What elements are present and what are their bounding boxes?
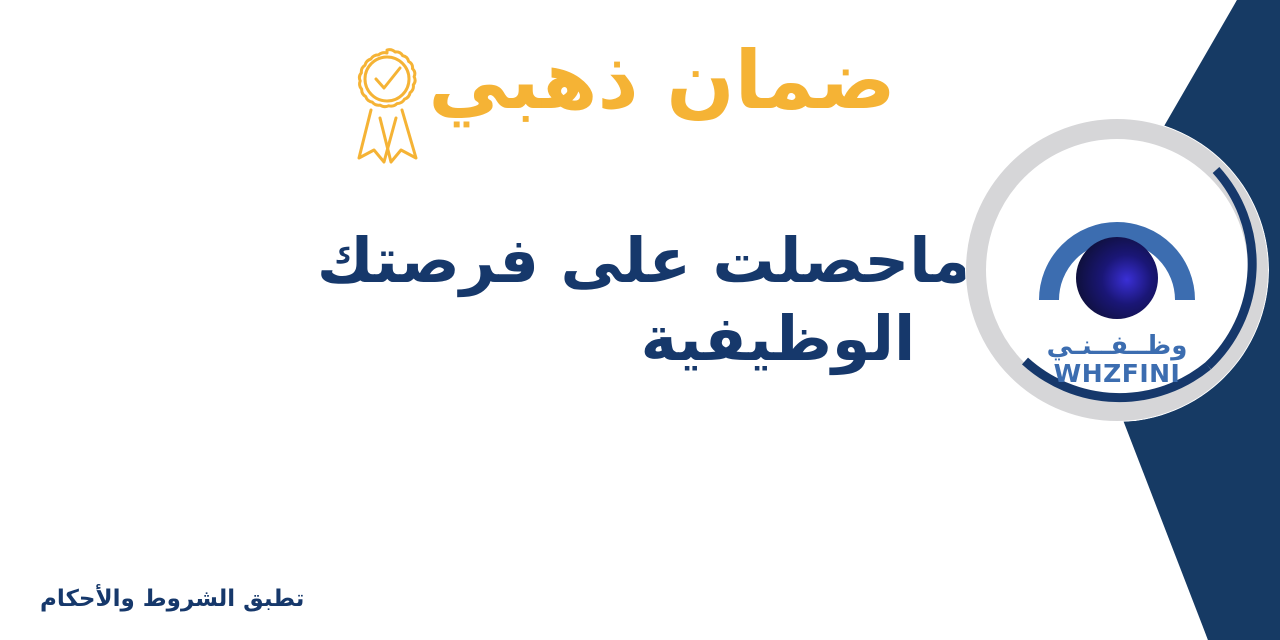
whzfini-logo: وظــفــنـي WHZFINI: [965, 118, 1269, 422]
headline-block: ضمان ذهبي: [320, 36, 920, 170]
headline-text: ضمان ذهبي: [428, 36, 895, 126]
logo-arabic-wordmark: وظــفــنـي: [1047, 331, 1188, 361]
logo-sphere: [1076, 237, 1158, 319]
terms-fine-print: تطبق الشروط والأحكام: [40, 586, 304, 612]
promo-banner: ضمان ذهبي في حال ماحصلت على فرصتك الوظيف…: [0, 0, 1280, 640]
award-ribbon-badge-icon: [344, 44, 430, 170]
logo-latin-wordmark: WHZFINI: [1054, 359, 1181, 388]
